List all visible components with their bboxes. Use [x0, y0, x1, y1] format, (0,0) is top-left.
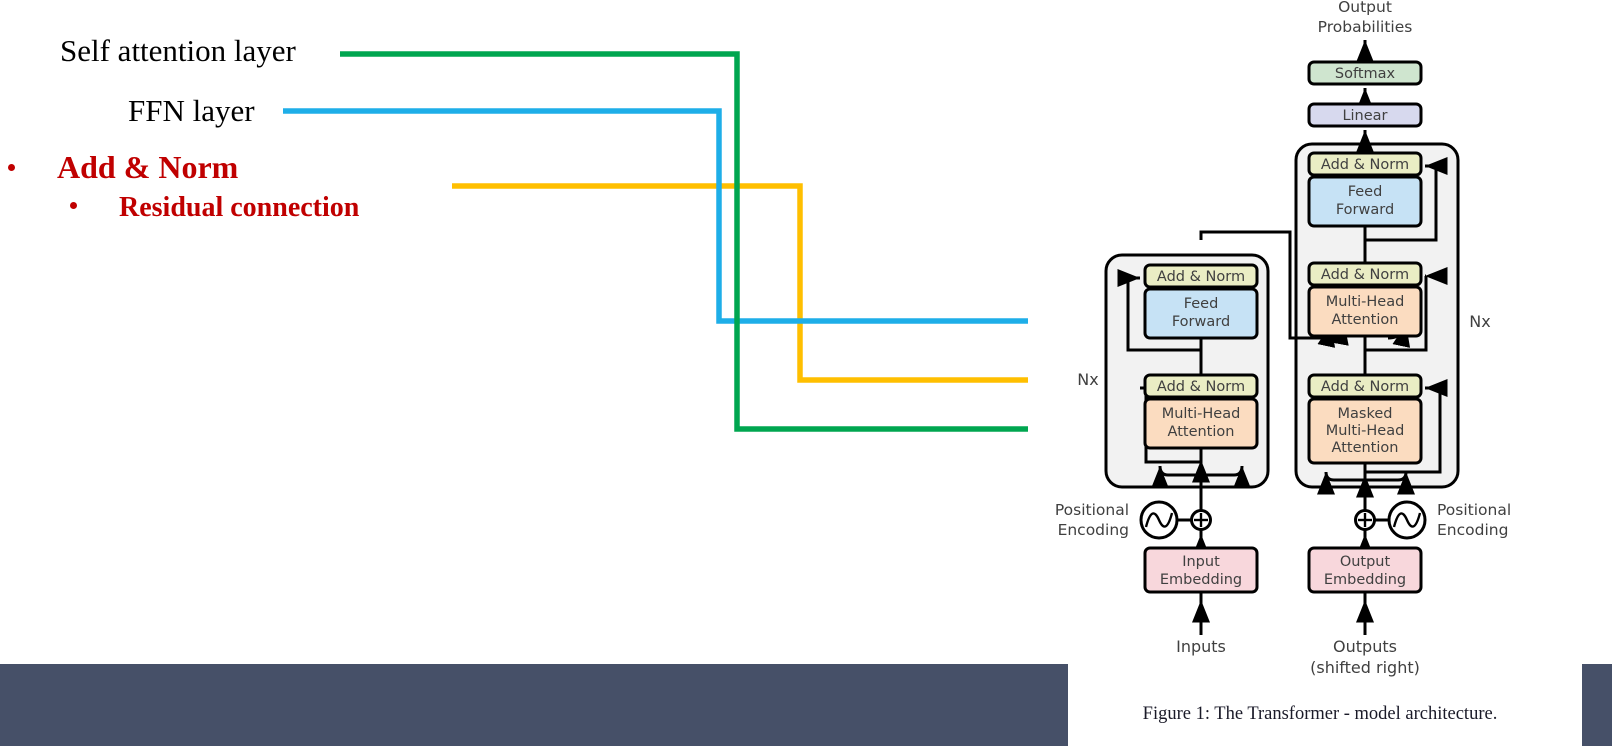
output-probabilities-line1: Output	[1338, 0, 1392, 16]
positional-encoding-left-label-line1: Positional	[1055, 501, 1129, 519]
input-embedding-label-line2: Embedding	[1160, 572, 1242, 588]
decoder-masked-label-line3: Attention	[1332, 440, 1399, 456]
decoder-add-norm-bottom-label: Add & Norm	[1321, 379, 1409, 395]
output-embedding-label-line2: Embedding	[1324, 572, 1406, 588]
label-ffn-layer: FFN layer	[128, 95, 255, 126]
encoder-feed-forward-label-line1: Feed	[1184, 296, 1219, 312]
linear-label: Linear	[1342, 108, 1387, 124]
encoder-attention-label-line1: Multi-Head	[1162, 406, 1241, 422]
outputs-label-line2: (shifted right)	[1310, 658, 1420, 677]
positional-encoding-right-label-line1: Positional	[1437, 501, 1511, 519]
label-self-attention-layer: Self attention layer	[60, 35, 296, 66]
bullet-add-and-norm: Add & Norm	[8, 149, 238, 186]
decoder-add-norm-top-label: Add & Norm	[1321, 157, 1409, 173]
output-probabilities-line2: Probabilities	[1318, 18, 1413, 36]
decoder-feed-forward-label-line1: Feed	[1348, 184, 1383, 200]
input-embedding-label-line1: Input	[1182, 554, 1220, 570]
figure-caption: Figure 1: The Transformer - model archit…	[1028, 704, 1612, 725]
encoder-add-norm-bottom-label: Add & Norm	[1157, 379, 1245, 395]
decoder-feed-forward-label-line2: Forward	[1336, 202, 1394, 218]
positional-encoding-right-label-line2: Encoding	[1437, 521, 1508, 539]
output-embedding-label-line1: Output	[1340, 554, 1391, 570]
decoder-masked-label-line2: Multi-Head	[1326, 423, 1405, 439]
footer-bar-left	[0, 664, 1068, 746]
slide-canvas: Self attention layer FFN layer Add & Nor…	[0, 0, 1612, 746]
decoder-attention-label-line2: Attention	[1332, 312, 1399, 328]
encoder-repeat-label: Nx	[1077, 370, 1098, 389]
outputs-label-line1: Outputs	[1333, 637, 1397, 656]
encoder-feed-forward-label-line2: Forward	[1172, 314, 1230, 330]
decoder-attention-label-line1: Multi-Head	[1326, 294, 1405, 310]
decoder-masked-label-line1: Masked	[1338, 406, 1393, 422]
bullet-dot-icon	[8, 164, 15, 171]
bullet-dot-icon	[70, 202, 77, 209]
bullet-residual-connection-label: Residual connection	[119, 192, 359, 224]
softmax-label: Softmax	[1335, 66, 1396, 82]
decoder-repeat-label: Nx	[1469, 312, 1490, 331]
bullet-residual-connection: Residual connection	[70, 192, 359, 224]
transformer-figure-panel: Add & Norm Feed Forward Add & Norm Multi…	[1028, 0, 1612, 746]
decorative-feather-image	[672, 0, 812, 14]
connector-residual	[452, 186, 1088, 380]
encoder-attention-label-line2: Attention	[1168, 424, 1235, 440]
inputs-label: Inputs	[1176, 637, 1226, 656]
positional-encoding-left-label-line2: Encoding	[1058, 521, 1129, 539]
encoder-add-norm-top-label: Add & Norm	[1157, 269, 1245, 285]
bullet-add-and-norm-label: Add & Norm	[57, 149, 238, 186]
footer-bar-right	[1582, 664, 1612, 746]
decoder-add-norm-middle-label: Add & Norm	[1321, 267, 1409, 283]
